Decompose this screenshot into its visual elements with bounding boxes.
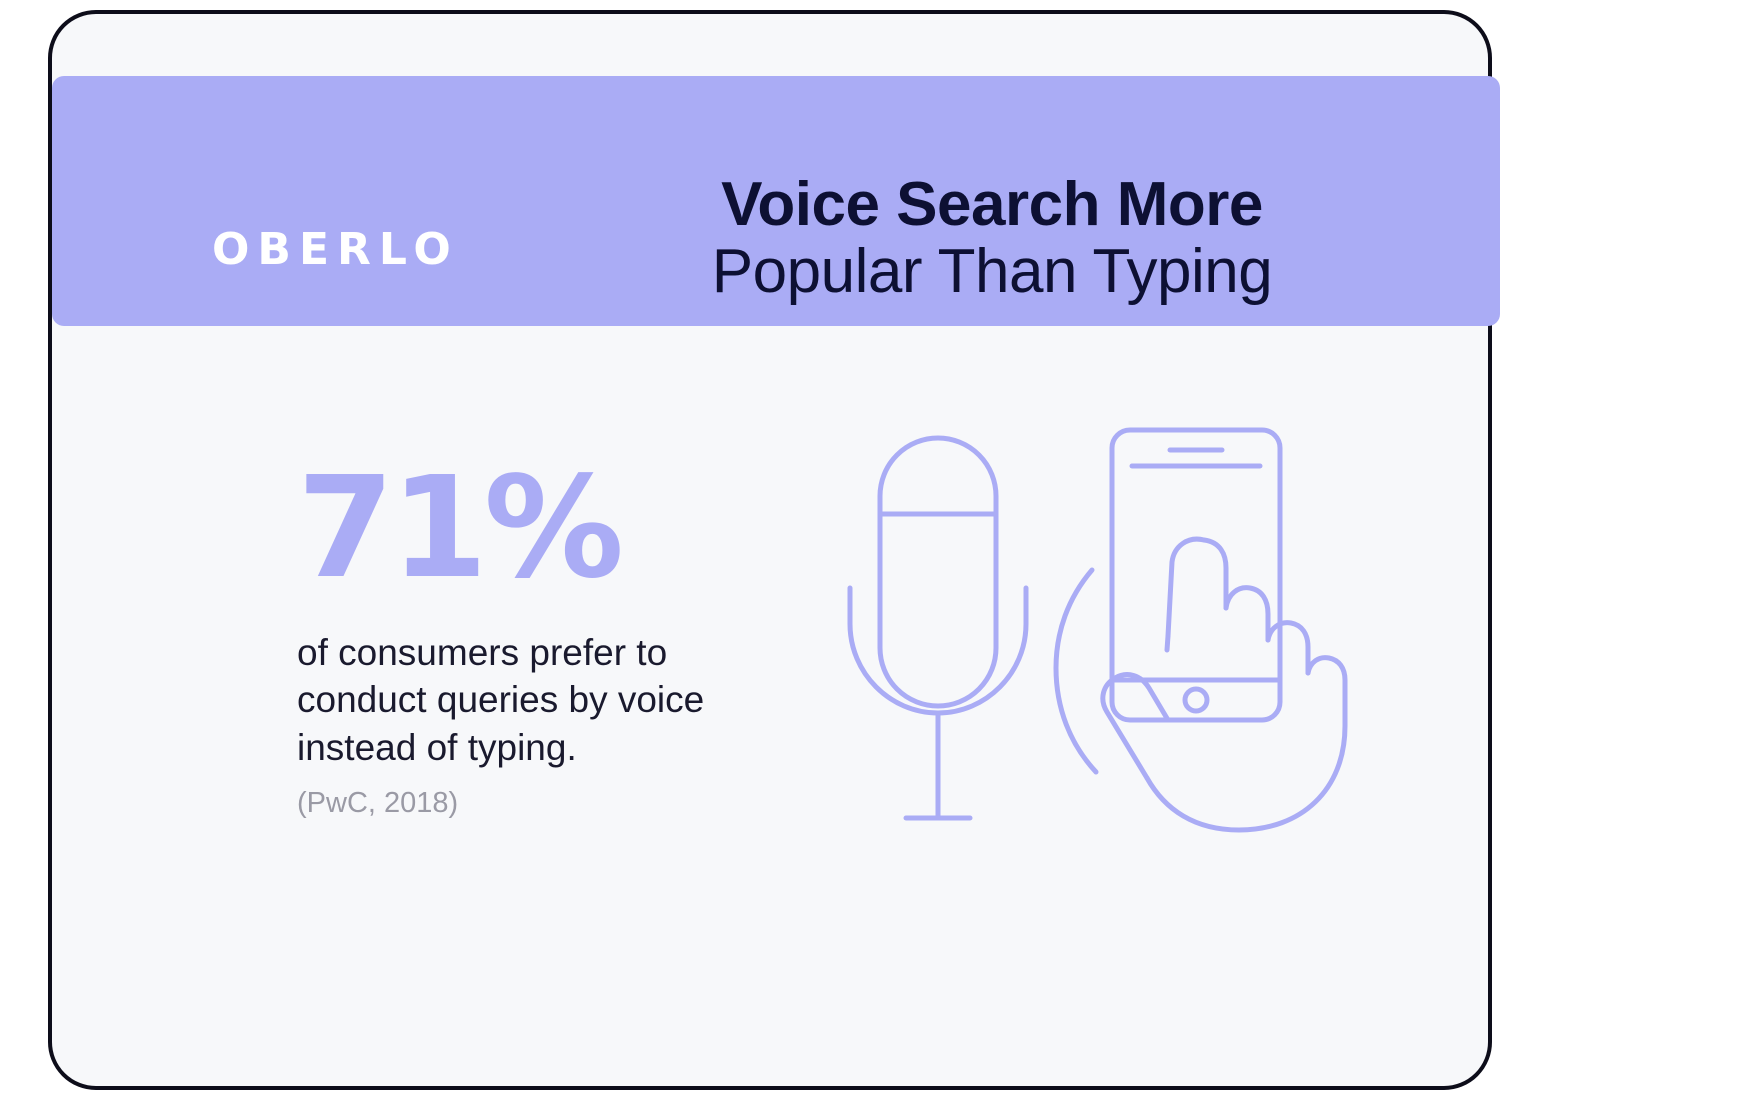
oberlo-logo: OBERLO [212, 228, 459, 272]
stat-block: 71% of consumers prefer to conduct queri… [297, 459, 817, 820]
stat-source: (PwC, 2018) [297, 787, 817, 820]
header-banner: OBERLO Voice Search More Popular Than Ty… [52, 76, 1500, 326]
illustration [812, 414, 1432, 854]
title-line-1: Voice Search More [512, 172, 1472, 239]
hand-pointing-icon [1056, 539, 1345, 830]
page-title: Voice Search More Popular Than Typing [512, 172, 1472, 306]
infographic-card: OBERLO Voice Search More Popular Than Ty… [48, 10, 1492, 1090]
stat-description: of consumers prefer to conduct queries b… [297, 629, 747, 771]
stat-value: 71% [297, 459, 817, 599]
title-line-2: Popular Than Typing [512, 239, 1472, 306]
microphone-icon [850, 438, 1026, 818]
